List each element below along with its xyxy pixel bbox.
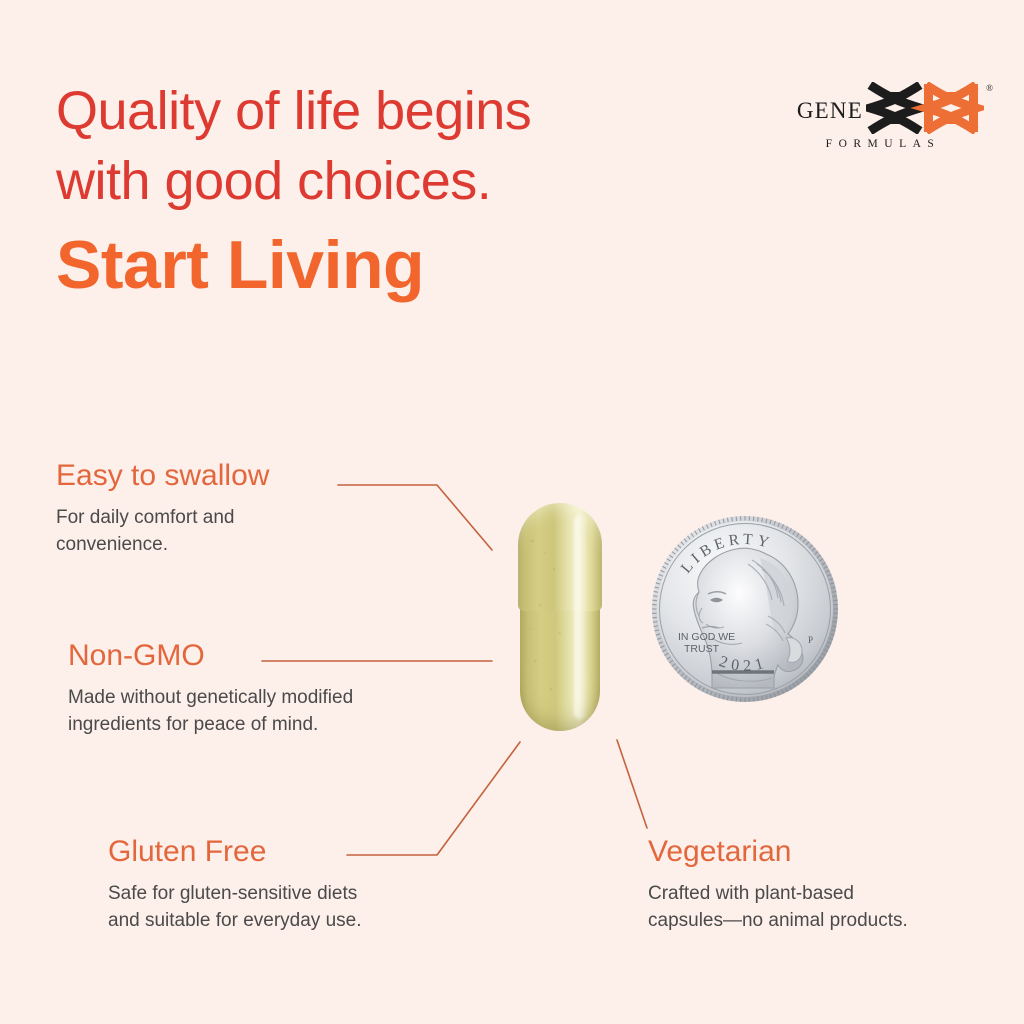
headline-emphasis: Start Living [56, 222, 676, 308]
feature-gluten-free: Gluten Free Safe for gluten-sensitive di… [108, 834, 362, 934]
logo-subtitle: FORMULAS [776, 138, 984, 150]
capsule-highlight [574, 515, 587, 719]
feature-description: For daily comfort and convenience. [56, 504, 269, 558]
logo-top-row: GENE [776, 82, 984, 134]
feature-description: Crafted with plant-based capsules—no ani… [648, 880, 908, 934]
feature-description: Safe for gluten-sensitive diets and suit… [108, 880, 362, 934]
connector-gluten-free [347, 742, 520, 855]
feature-vegetarian: Vegetarian Crafted with plant-based caps… [648, 834, 908, 934]
infographic-canvas: Quality of life begins with good choices… [0, 0, 1024, 1024]
connector-easy-to-swallow [338, 485, 492, 550]
coin-motto-line-2: TRUST [684, 643, 720, 655]
feature-title: Non-GMO [68, 638, 353, 674]
brand-logo: GENE [776, 82, 984, 164]
registered-trademark-symbol: ® [986, 83, 993, 93]
logo-wordmark: GENE [797, 98, 863, 124]
headline-line-2: with good choices. [56, 146, 676, 216]
feature-non-gmo: Non-GMO Made without genetically modifie… [68, 638, 353, 738]
headline-block: Quality of life begins with good choices… [56, 76, 676, 308]
capsule-icon [518, 503, 602, 731]
feature-easy-to-swallow: Easy to swallow For daily comfort and co… [56, 458, 269, 558]
connector-vegetarian [617, 740, 647, 828]
capsule-texture [522, 517, 574, 717]
feature-title: Gluten Free [108, 834, 362, 870]
feature-description: Made without genetically modified ingred… [68, 684, 353, 738]
headline-line-1: Quality of life begins [56, 76, 676, 146]
feature-title: Vegetarian [648, 834, 908, 870]
feature-title: Easy to swallow [56, 458, 269, 494]
coin-mintmark: P [808, 635, 813, 645]
coin-motto-line-1: IN GOD WE [678, 631, 735, 643]
dna-helix-icon: ® [866, 82, 984, 134]
us-quarter-coin-icon: LIBERTY IN GOD WE TRUST P 2021 [648, 512, 842, 706]
